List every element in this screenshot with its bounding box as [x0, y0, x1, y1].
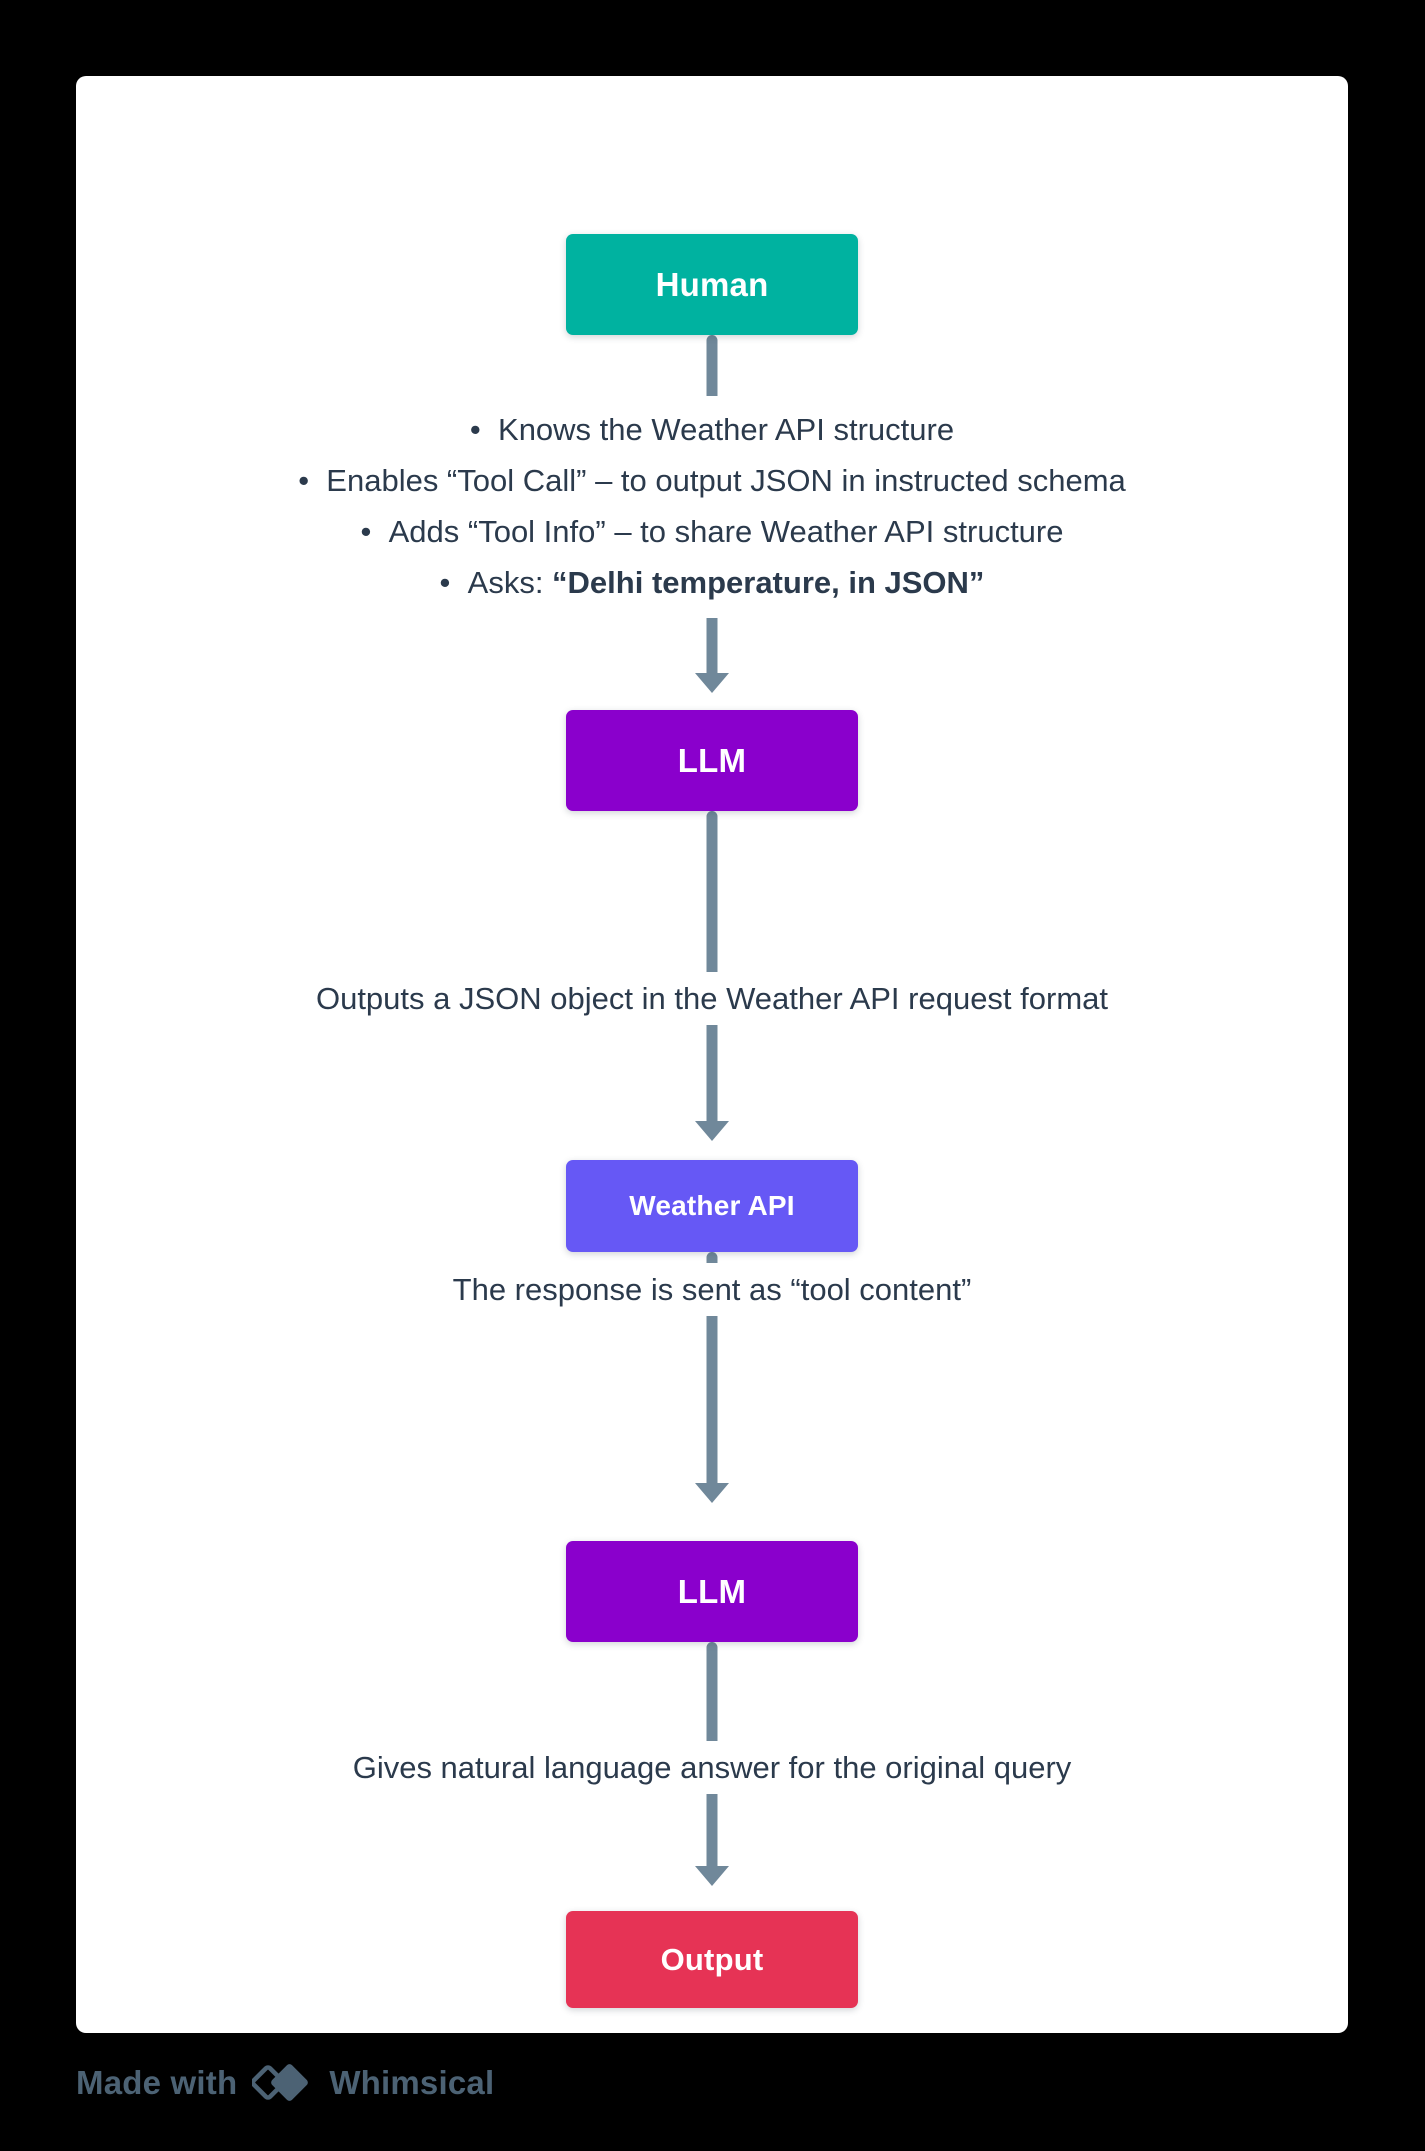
node-weather-api[interactable]: Weather API [566, 1160, 858, 1252]
bullet-item: • Knows the Weather API structure [76, 404, 1348, 455]
bullet-item: • Enables “Tool Call” – to output JSON i… [76, 455, 1348, 506]
bullet-text-1: Knows the Weather API structure [498, 412, 954, 447]
edge-label-llm-to-output-text: Gives natural language answer for the or… [76, 1752, 1348, 1783]
node-llm-second-label: LLM [678, 1573, 746, 1611]
edge-label-api-to-llm-text: The response is sent as “tool content” [76, 1274, 1348, 1305]
node-output[interactable]: Output [566, 1911, 858, 2008]
edge-label-llm-to-api: Outputs a JSON object in the Weather API… [76, 972, 1348, 1025]
arrowhead-llm2-to-output [695, 1866, 729, 1886]
bullet-text-4-prefix: Asks: [468, 565, 552, 600]
whimsical-brand-label: Whimsical [329, 2064, 494, 2102]
node-human-label: Human [656, 266, 769, 304]
arrowhead-llm1-to-api [695, 1121, 729, 1141]
made-with-label: Made with [76, 2064, 237, 2102]
arrowhead-api-to-llm2 [695, 1483, 729, 1503]
flowchart: Human • Knows the Weather API structure … [76, 76, 1348, 2033]
node-human[interactable]: Human [566, 234, 858, 335]
node-output-label: Output [661, 1942, 764, 1978]
whimsical-logo-icon [252, 2063, 314, 2103]
arrowhead-human-to-llm1 [695, 673, 729, 693]
bullet-text-4-bold: “Delhi temperature, in JSON” [552, 565, 984, 600]
bullet-text-2: Enables “Tool Call” – to output JSON in … [326, 463, 1126, 498]
bullet-item: • Adds “Tool Info” – to share Weather AP… [76, 506, 1348, 557]
bullet-item: • Asks: “Delhi temperature, in JSON” [76, 557, 1348, 608]
node-llm-second[interactable]: LLM [566, 1541, 858, 1642]
connector-llm1-to-api [707, 811, 718, 1127]
node-llm-first-label: LLM [678, 742, 746, 780]
human-bullet-list: • Knows the Weather API structure • Enab… [76, 396, 1348, 618]
node-weather-api-label: Weather API [629, 1190, 795, 1222]
edge-label-llm-to-api-text: Outputs a JSON object in the Weather API… [76, 983, 1348, 1014]
whimsical-watermark[interactable]: Made with Whimsical [76, 2063, 494, 2103]
bullet-text-3: Adds “Tool Info” – to share Weather API … [389, 514, 1064, 549]
node-llm-first[interactable]: LLM [566, 710, 858, 811]
edge-label-llm-to-output: Gives natural language answer for the or… [76, 1741, 1348, 1794]
edge-label-api-to-llm: The response is sent as “tool content” [76, 1263, 1348, 1316]
diagram-card: Human • Knows the Weather API structure … [76, 76, 1348, 2033]
screenshot-root: Human • Knows the Weather API structure … [0, 0, 1425, 2151]
